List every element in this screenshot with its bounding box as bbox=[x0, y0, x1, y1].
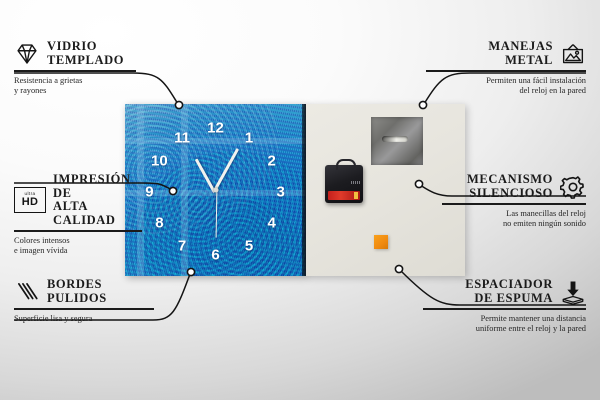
clock-numeral-11: 11 bbox=[174, 130, 190, 145]
title-line-1: IMPRESIÓN DE bbox=[53, 172, 131, 200]
title-line-2: TEMPLADO bbox=[47, 53, 124, 67]
desc-line-1: Las manecillas del reloj bbox=[506, 209, 586, 218]
hanger-plate bbox=[371, 117, 423, 165]
clock-numeral-8: 8 bbox=[155, 215, 163, 230]
desc-line-2: y rayones bbox=[14, 86, 46, 95]
hanger-slot bbox=[382, 136, 408, 142]
title-line-2: ALTA CALIDAD bbox=[53, 199, 116, 227]
title-line-2: METAL bbox=[505, 53, 553, 67]
callout-title: MECANISMO SILENCIOSO bbox=[467, 173, 553, 200]
callout-mecanismo-silencioso: MECANISMO SILENCIOSO Las manecillas del … bbox=[442, 173, 586, 229]
callout-description: Las manecillas del reloj no emiten ningú… bbox=[442, 209, 586, 229]
desc-line-2: e imagen vívida bbox=[14, 246, 68, 255]
title-line-2: SILENCIOSO bbox=[469, 186, 553, 200]
ultra-hd-icon: ultra HD bbox=[14, 187, 46, 213]
title-line-1: VIDRIO bbox=[47, 39, 97, 53]
callout-vidrio-templado: VIDRIO TEMPLADO Resistencia a grietas y … bbox=[14, 40, 136, 96]
callout-rule bbox=[14, 70, 136, 72]
title-line-1: BORDES bbox=[47, 277, 102, 291]
title-line-2: PULIDOS bbox=[47, 291, 107, 305]
callout-rule bbox=[14, 230, 142, 232]
battery bbox=[328, 191, 360, 200]
foam-spacer bbox=[374, 235, 388, 249]
clock-numeral-10: 10 bbox=[151, 153, 168, 168]
foam-spacer-icon bbox=[560, 279, 586, 305]
callout-espaciador-de-espuma: ESPACIADOR DE ESPUMA Permite mantener un… bbox=[423, 278, 586, 334]
title-line-1: ESPACIADOR bbox=[465, 277, 553, 291]
callout-impresion-alta-calidad: ultra HD IMPRESIÓN DE ALTA CALIDAD Color… bbox=[14, 173, 142, 256]
callout-title: MANEJAS METAL bbox=[488, 40, 553, 67]
mechanism-hook bbox=[336, 159, 356, 170]
callout-description: Permiten una fácil instalación del reloj… bbox=[426, 76, 586, 96]
callout-title: BORDES PULIDOS bbox=[47, 278, 107, 305]
clock-front-face: 12 1 2 3 4 5 6 7 8 9 10 11 bbox=[125, 104, 306, 276]
clock-numeral-2: 2 bbox=[267, 153, 275, 168]
product-photo: 12 1 2 3 4 5 6 7 8 9 10 11 bbox=[125, 104, 465, 276]
clock-numeral-7: 7 bbox=[178, 238, 186, 253]
mechanism-label bbox=[351, 181, 360, 184]
callout-title: IMPRESIÓN DE ALTA CALIDAD bbox=[53, 173, 142, 227]
desc-line-1: Superficie lisa y segura bbox=[14, 314, 92, 323]
callout-title: VIDRIO TEMPLADO bbox=[47, 40, 124, 67]
clock-numeral-9: 9 bbox=[145, 184, 153, 199]
picture-frame-icon bbox=[560, 41, 586, 67]
polished-edges-icon bbox=[14, 279, 40, 305]
diamond-icon bbox=[14, 41, 40, 67]
callout-rule bbox=[442, 203, 586, 205]
ultra-hd-main-text: HD bbox=[22, 197, 39, 208]
infographic-canvas: 12 1 2 3 4 5 6 7 8 9 10 11 bbox=[0, 0, 600, 400]
desc-line-2: uniforme entre el reloj y la pared bbox=[476, 324, 586, 333]
desc-line-1: Permite mantener una distancia bbox=[481, 314, 586, 323]
title-line-1: MECANISMO bbox=[467, 172, 553, 186]
desc-line-1: Colores intensos bbox=[14, 236, 70, 245]
callout-rule bbox=[14, 308, 154, 310]
title-line-1: MANEJAS bbox=[488, 39, 553, 53]
callout-rule bbox=[423, 308, 586, 310]
callout-manejas-metal: MANEJAS METAL Permiten una fácil instala… bbox=[426, 40, 586, 96]
desc-line-1: Resistencia a grietas bbox=[14, 76, 82, 85]
clock-numeral-3: 3 bbox=[276, 184, 284, 199]
clock-numeral-6: 6 bbox=[211, 248, 219, 263]
clock-numeral-12: 12 bbox=[207, 121, 224, 136]
clock-mechanism bbox=[325, 165, 363, 203]
callout-rule bbox=[426, 70, 586, 72]
desc-line-1: Permiten una fácil instalación bbox=[486, 76, 586, 85]
callout-title: ESPACIADOR DE ESPUMA bbox=[465, 278, 553, 305]
desc-line-2: no emiten ningún sonido bbox=[503, 219, 586, 228]
clock-numeral-1: 1 bbox=[245, 130, 253, 145]
clock-center-cap bbox=[213, 188, 218, 193]
gear-icon bbox=[560, 174, 586, 200]
desc-line-2: del reloj en la pared bbox=[519, 86, 586, 95]
callout-description: Superficie lisa y segura bbox=[14, 314, 154, 324]
callout-description: Permite mantener una distancia uniforme … bbox=[423, 314, 586, 334]
callout-description: Resistencia a grietas y rayones bbox=[14, 76, 136, 96]
clock-numeral-5: 5 bbox=[245, 238, 253, 253]
clock-numeral-4: 4 bbox=[267, 215, 275, 230]
callout-description: Colores intensos e imagen vívida bbox=[14, 236, 142, 256]
title-line-2: DE ESPUMA bbox=[474, 291, 553, 305]
callout-bordes-pulidos: BORDES PULIDOS Superficie lisa y segura bbox=[14, 278, 154, 324]
